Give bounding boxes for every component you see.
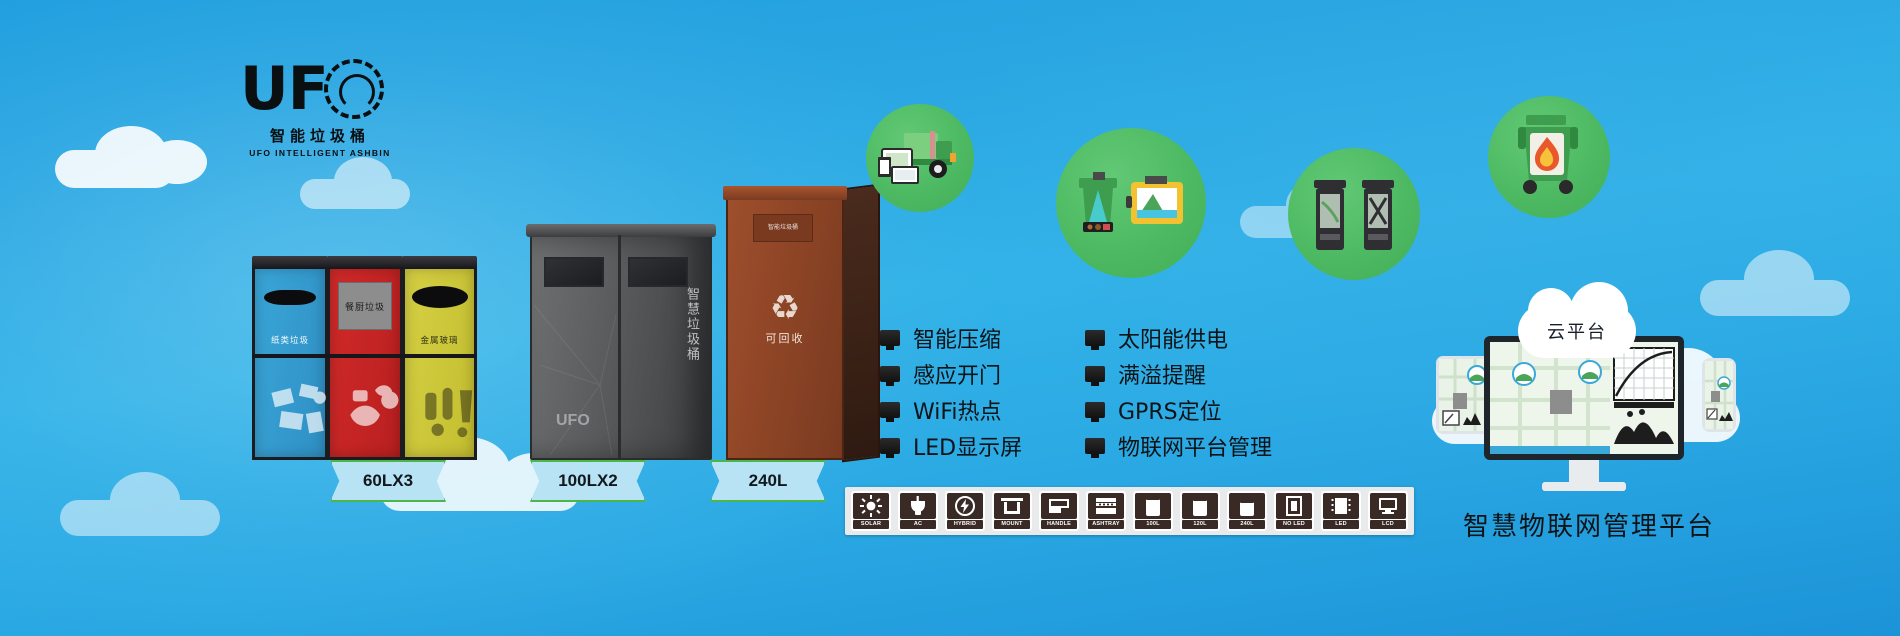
spec-label: AC — [900, 520, 936, 529]
feature-list-right: 太阳能供电 满溢提醒 GPRS定位 物联网平台管理 — [1085, 320, 1272, 464]
bin-cell-kitchen: 餐厨垃圾 — [327, 265, 402, 460]
bin-lid — [402, 256, 477, 269]
spec-ac[interactable]: AC — [898, 491, 938, 531]
bin-opening-slot-icon — [264, 290, 316, 305]
monitor-bullet-icon — [1085, 330, 1105, 346]
wall-mount-icon — [994, 493, 1030, 519]
spec-label: HANDLE — [1041, 520, 1077, 529]
feature-item: 物联网平台管理 — [1085, 428, 1272, 464]
bin-display-screen: 智能垃圾桶 — [753, 214, 813, 242]
logo-english-name: UFO INTELLIGENT ASHBIN — [240, 148, 400, 158]
no-led-icon — [1276, 493, 1312, 519]
bin-brand-mark: UFO — [556, 412, 590, 430]
bin-cell-paper: 纸类垃圾 — [252, 265, 327, 460]
bin-120l-icon — [1182, 493, 1218, 519]
feature-label: WiFi热点 — [913, 394, 1002, 426]
capacity-banner-60lx3: 60LX3 — [330, 460, 446, 502]
ashtray-icon — [1088, 493, 1124, 519]
bin-cell-label: 餐厨垃圾 — [345, 300, 385, 313]
monitor-base — [1542, 482, 1626, 491]
feature-circle-fill-sensor — [1056, 128, 1206, 278]
feature-label: 满溢提醒 — [1118, 358, 1206, 390]
spec-label: 120L — [1182, 520, 1218, 529]
spec-label: LCD — [1370, 520, 1406, 529]
feature-item: 满溢提醒 — [1085, 356, 1272, 392]
gray-smart-bin: 智慧垃圾桶 UFO — [530, 235, 712, 460]
bin-fill-sensor-icon — [1071, 164, 1191, 242]
cloud-decoration — [60, 470, 270, 540]
spec-lcd[interactable]: LCD — [1368, 491, 1408, 531]
monitor-bullet-icon — [880, 438, 900, 454]
promo-banner: UF 智能垃圾桶 UFO INTELLIGENT ASHBIN 纸类垃圾 — [0, 0, 1900, 636]
spec-label: NO LED — [1276, 520, 1312, 529]
monitor-bullet-icon — [880, 330, 900, 346]
spec-240l[interactable]: 240L — [1227, 491, 1267, 531]
monitor-bullet-icon — [1085, 366, 1105, 382]
feature-label: LED显示屏 — [913, 430, 1022, 462]
spec-label: LED — [1323, 520, 1359, 529]
recycle-icon: ♻ — [770, 288, 800, 328]
cloud-platform-label: 云平台 — [1518, 304, 1636, 358]
hybrid-bolt-icon — [947, 493, 983, 519]
brown-recycling-bin: 智能垃圾桶 ♻ 可回收 — [726, 198, 844, 460]
ufo-ring-o-icon — [324, 59, 384, 119]
monitor-bullet-icon — [1085, 438, 1105, 454]
logo-uf-text: UF — [240, 60, 328, 118]
monitor-bullet-icon — [880, 366, 900, 382]
feature-item: LED显示屏 — [880, 428, 1022, 464]
feature-item: 智能压缩 — [880, 320, 1022, 356]
spec-label: HYBRID — [947, 520, 983, 529]
spec-hybrid[interactable]: HYBRID — [945, 491, 985, 531]
bin-divider — [252, 354, 328, 358]
bin-fire-alarm-icon — [1504, 111, 1594, 203]
bin-lid — [252, 256, 328, 269]
power-plug-icon — [900, 493, 936, 519]
bin-vertical-label: 智慧垃圾桶 — [683, 287, 702, 362]
spec-mount[interactable]: MOUNT — [992, 491, 1032, 531]
paper-waste-illustration — [263, 373, 337, 447]
spec-label: 240L — [1229, 520, 1265, 529]
metal-glass-waste-illustration — [413, 373, 487, 447]
bin-side-panel — [842, 184, 880, 463]
feature-item: WiFi热点 — [880, 392, 1022, 428]
spec-label: MOUNT — [994, 520, 1030, 529]
bin-recycle-label: 可回收 — [726, 330, 844, 346]
bin-lid — [723, 186, 847, 200]
bin-240l-icon — [1229, 493, 1265, 519]
monitor-bullet-icon — [880, 402, 900, 418]
feature-item: 感应开门 — [880, 356, 1022, 392]
cloud-decoration — [300, 155, 450, 213]
feature-label: GPRS定位 — [1118, 394, 1222, 426]
monitor-stand — [1569, 460, 1599, 482]
phone-dashboard-screen — [1705, 361, 1733, 429]
capacity-banner-240l: 240L — [710, 460, 826, 502]
feature-label: 感应开门 — [913, 358, 1001, 390]
collection-truck-and-dashboard-icon — [878, 123, 962, 193]
feature-circle-dual-bin — [1288, 148, 1420, 280]
feature-item: GPRS定位 — [1085, 392, 1272, 428]
kitchen-waste-illustration — [338, 373, 412, 447]
feature-list-left: 智能压缩 感应开门 WiFi热点 LED显示屏 — [880, 320, 1022, 464]
feature-item: 太阳能供电 — [1085, 320, 1272, 356]
spec-no-led[interactable]: NO LED — [1274, 491, 1314, 531]
bin-cell-metal-glass: 金属玻璃 — [402, 265, 477, 460]
feature-circle-collection-truck — [866, 104, 974, 212]
bin-screen-text: 智能垃圾桶 — [768, 224, 798, 233]
led-panel-icon — [1323, 493, 1359, 519]
sun-icon — [853, 493, 889, 519]
spec-120l[interactable]: 120L — [1180, 491, 1220, 531]
bin-divider — [327, 354, 403, 358]
cloud-platform-text: 云平台 — [1547, 318, 1607, 344]
spec-label: SOLAR — [853, 520, 889, 529]
logo-chinese-name: 智能垃圾桶 — [240, 125, 400, 146]
spec-label: 100L — [1135, 520, 1171, 529]
spec-label: ASHTRAY — [1088, 520, 1124, 529]
feature-label: 智能压缩 — [913, 322, 1001, 354]
monitor-dashboard-screen — [1490, 342, 1678, 454]
triple-recycling-bin: 纸类垃圾 餐厨垃圾 — [252, 265, 477, 460]
desktop-monitor — [1484, 336, 1684, 491]
spec-ashtray[interactable]: ASHTRAY — [1086, 491, 1126, 531]
bin-100l-icon — [1135, 493, 1171, 519]
bin-divider — [402, 354, 477, 358]
platform-caption: 智慧物联网管理平台 — [1444, 506, 1734, 543]
spec-100l[interactable]: 100L — [1133, 491, 1173, 531]
feature-label: 物联网平台管理 — [1118, 430, 1272, 462]
brand-logo: UF 智能垃圾桶 UFO INTELLIGENT ASHBIN — [240, 58, 400, 158]
bin-lid — [327, 256, 403, 269]
cloud-decoration — [55, 120, 245, 190]
spec-led[interactable]: LED — [1321, 491, 1361, 531]
bin-cell-label: 纸类垃圾 — [255, 334, 325, 346]
bin-opening-round-icon — [412, 286, 468, 308]
phone-device — [1702, 358, 1736, 432]
spec-handle[interactable]: HANDLE — [1039, 491, 1079, 531]
bin-cell-label: 金属玻璃 — [405, 334, 474, 346]
bin-display-panel: 餐厨垃圾 — [338, 282, 392, 330]
logo-wordmark: UF — [240, 58, 400, 120]
capacity-banner-100lx2: 100LX2 — [530, 460, 646, 502]
feature-label: 太阳能供电 — [1118, 322, 1228, 354]
spec-solar[interactable]: SOLAR — [851, 491, 891, 531]
lcd-screen-icon — [1370, 493, 1406, 519]
dual-bin-compaction-icon — [1304, 172, 1404, 256]
spec-icon-strip: SOLAR AC HYBRID — [845, 487, 1414, 535]
monitor-bullet-icon — [1085, 402, 1105, 418]
feature-circle-fire-alarm — [1488, 96, 1610, 218]
handle-icon — [1041, 493, 1077, 519]
